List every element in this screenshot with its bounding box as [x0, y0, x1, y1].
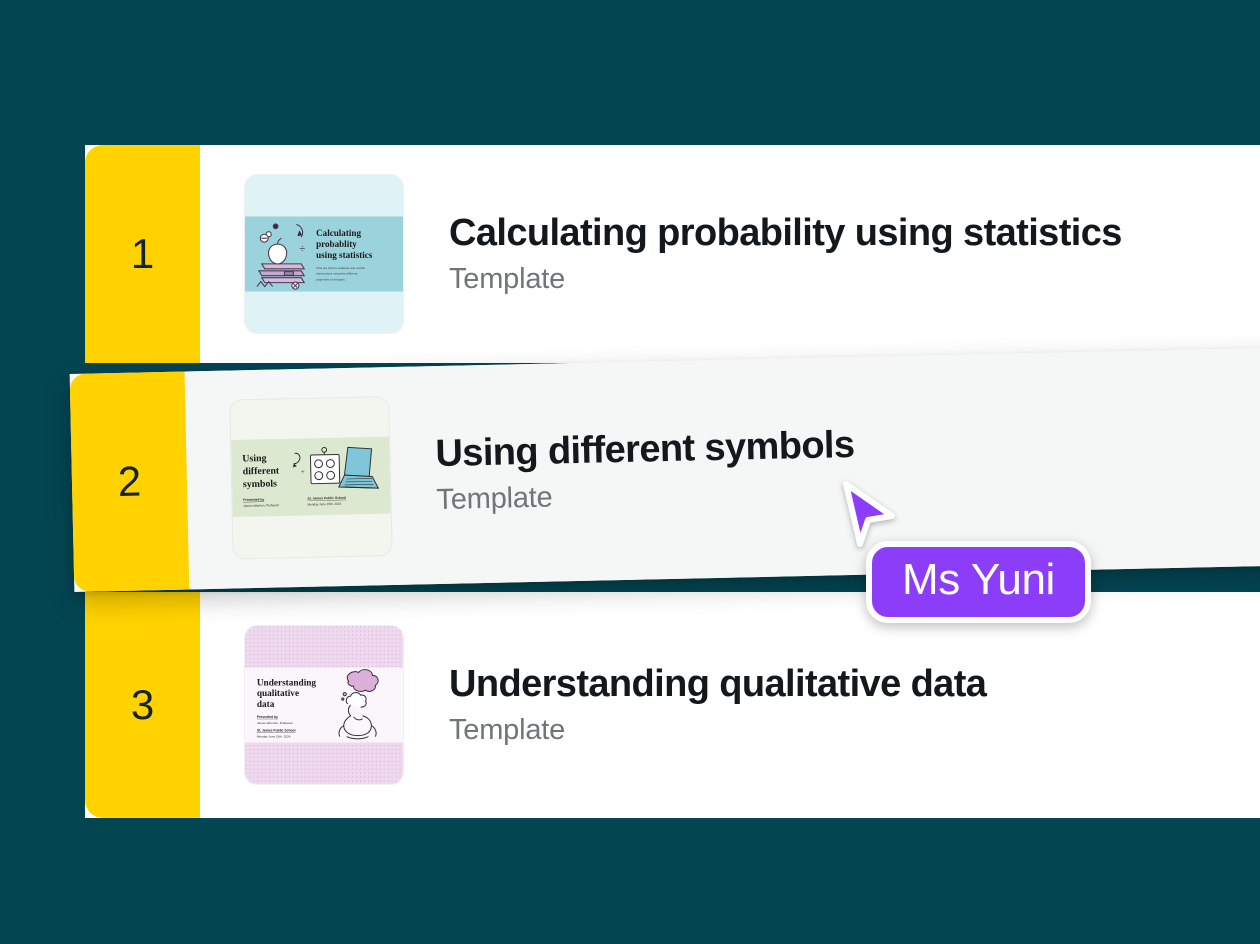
slide-number-2: 2	[117, 457, 141, 505]
slide-subtitle-2: Template	[436, 476, 856, 516]
slide-row-1-texts: Calculating probability using statistics…	[449, 214, 1122, 294]
slide-number-3: 3	[131, 681, 154, 729]
slide-thumbnail-3[interactable]: Understanding qualitative data Presented…	[245, 626, 403, 784]
collaborator-name-label: Ms Yuni	[902, 555, 1055, 604]
svg-text:Presented by: Presented by	[257, 715, 278, 719]
svg-text:Presented by: Presented by	[243, 498, 264, 502]
svg-text:properties of integers.: properties of integers.	[316, 278, 346, 282]
slide-subtitle-3: Template	[449, 715, 986, 745]
slide-row-1[interactable]: 1	[85, 145, 1260, 363]
svg-text:+: +	[301, 469, 305, 476]
svg-text:probablity: probablity	[316, 239, 357, 249]
slide-number-tab-2[interactable]: 2	[70, 372, 190, 592]
svg-text:Calculating: Calculating	[316, 228, 361, 238]
slide-number-1: 1	[131, 230, 154, 278]
svg-text:expressions using the differen: expressions using the different	[316, 272, 357, 276]
slide-row-3-texts: Understanding qualitative data Template	[449, 665, 986, 745]
svg-text:Monday June 15th, 2024: Monday June 15th, 2024	[257, 735, 291, 739]
svg-text:Using: Using	[242, 453, 266, 465]
slide-thumbnail-1[interactable]: ÷ Calculating probablity using statistic…	[245, 175, 403, 333]
slide-row-1-body: ÷ Calculating probablity using statistic…	[200, 145, 1260, 363]
svg-text:James Atherton, Professor: James Atherton, Professor	[257, 721, 293, 725]
slide-row-2-body: Using different symbols Presented by Jam…	[185, 348, 1260, 590]
svg-text:using statistics: using statistics	[316, 250, 373, 260]
svg-text:different: different	[243, 466, 280, 478]
svg-text:qualitative: qualitative	[257, 689, 299, 699]
svg-text:symbols: symbols	[243, 478, 277, 490]
slide-title-3: Understanding qualitative data	[449, 665, 986, 705]
slide-subtitle-1: Template	[449, 264, 1122, 294]
slide-number-tab-3[interactable]: 3	[85, 592, 200, 818]
slide-row-3[interactable]: 3 Understanding qualitative da	[85, 592, 1260, 818]
collaborator-name-tag: Ms Yuni	[866, 541, 1091, 623]
slide-row-2-texts: Using different symbols Template	[435, 426, 856, 515]
svg-text:Monday June 15th, 2024: Monday June 15th, 2024	[308, 502, 342, 507]
svg-text:St. James Public School: St. James Public School	[257, 729, 296, 733]
svg-text:Understanding: Understanding	[257, 678, 317, 688]
svg-text:Find out how to evaluate and r: Find out how to evaluate and rewrite	[316, 266, 365, 270]
svg-text:James Atherton, Professor: James Atherton, Professor	[243, 503, 279, 508]
svg-text:÷: ÷	[299, 243, 305, 255]
slide-thumbnail-2[interactable]: Using different symbols Presented by Jam…	[230, 397, 391, 558]
svg-text:data: data	[257, 700, 275, 710]
slide-title-2: Using different symbols	[435, 426, 855, 475]
slide-number-tab-1[interactable]: 1	[85, 145, 200, 363]
svg-text:St. James Public School: St. James Public School	[307, 496, 346, 501]
slide-list-canvas: 1	[0, 0, 1260, 944]
slide-title-1: Calculating probability using statistics	[449, 214, 1122, 254]
slide-row-3-body: Understanding qualitative data Presented…	[200, 592, 1260, 818]
